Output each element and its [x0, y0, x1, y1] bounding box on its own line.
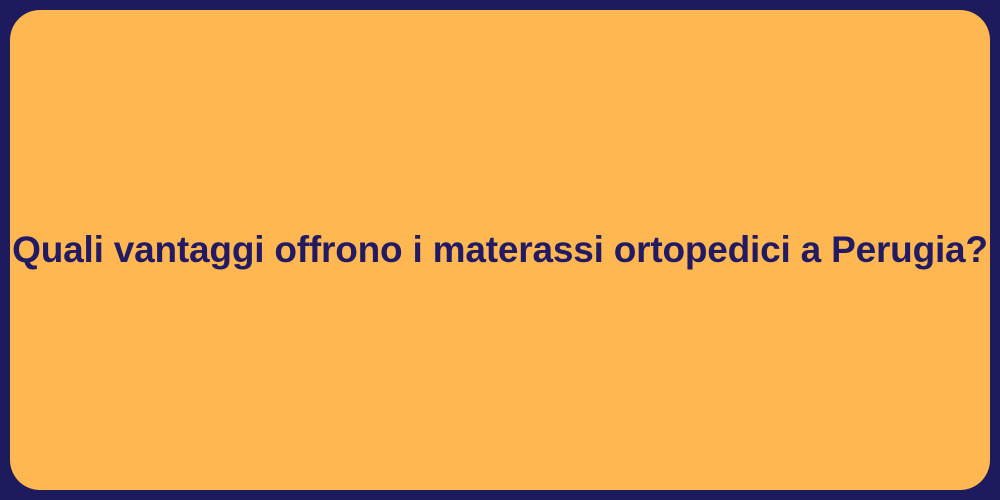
question-heading: Quali vantaggi offrono i materassi ortop…: [0, 227, 1000, 273]
question-card-panel: Quali vantaggi offrono i materassi ortop…: [10, 10, 990, 490]
question-card-border: Quali vantaggi offrono i materassi ortop…: [0, 0, 1000, 500]
